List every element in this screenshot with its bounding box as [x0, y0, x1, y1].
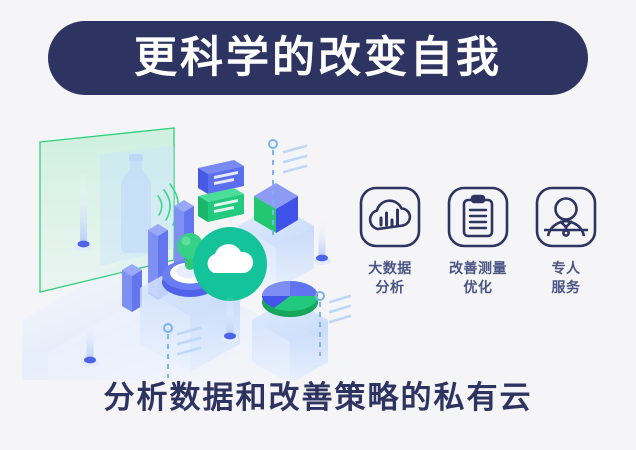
cloud-bar-chart-icon: [359, 186, 421, 248]
feature-label-line1: 大数据: [368, 260, 412, 276]
feature-label-line2: 服务: [552, 279, 581, 295]
feature-label-line1: 改善测量: [449, 260, 507, 276]
cloud-badge: [193, 227, 267, 301]
feature-dedicated-service[interactable]: 专人 服务: [528, 186, 604, 297]
feature-big-data-analysis[interactable]: 大数据 分析: [352, 186, 428, 297]
feature-label-line2: 优化: [464, 279, 493, 295]
title-banner: 更科学的改变自我: [48, 21, 588, 95]
feature-label: 改善测量 优化: [449, 259, 507, 297]
clipboard-icon: [447, 186, 509, 248]
page-title: 更科学的改变自我: [134, 37, 502, 80]
feature-label-line2: 分析: [376, 279, 405, 295]
feature-label-line1: 专人: [552, 260, 581, 276]
gradient-pin: [313, 214, 331, 265]
support-agent-icon: [535, 186, 597, 248]
page-caption: 分析数据和改善策略的私有云: [0, 382, 636, 413]
feature-label: 专人 服务: [552, 259, 581, 297]
poster-canvas: 更科学的改变自我: [0, 0, 636, 450]
feature-label: 大数据 分析: [368, 259, 412, 297]
feature-list: 大数据 分析 改善测量: [352, 186, 604, 326]
label-card-green: [198, 188, 244, 222]
label-card-blue: [198, 160, 244, 194]
pie-chart-3d: [262, 281, 318, 317]
feature-improvement-measurement[interactable]: 改善测量 优化: [440, 186, 516, 297]
isometric-illustration: [22, 120, 352, 380]
